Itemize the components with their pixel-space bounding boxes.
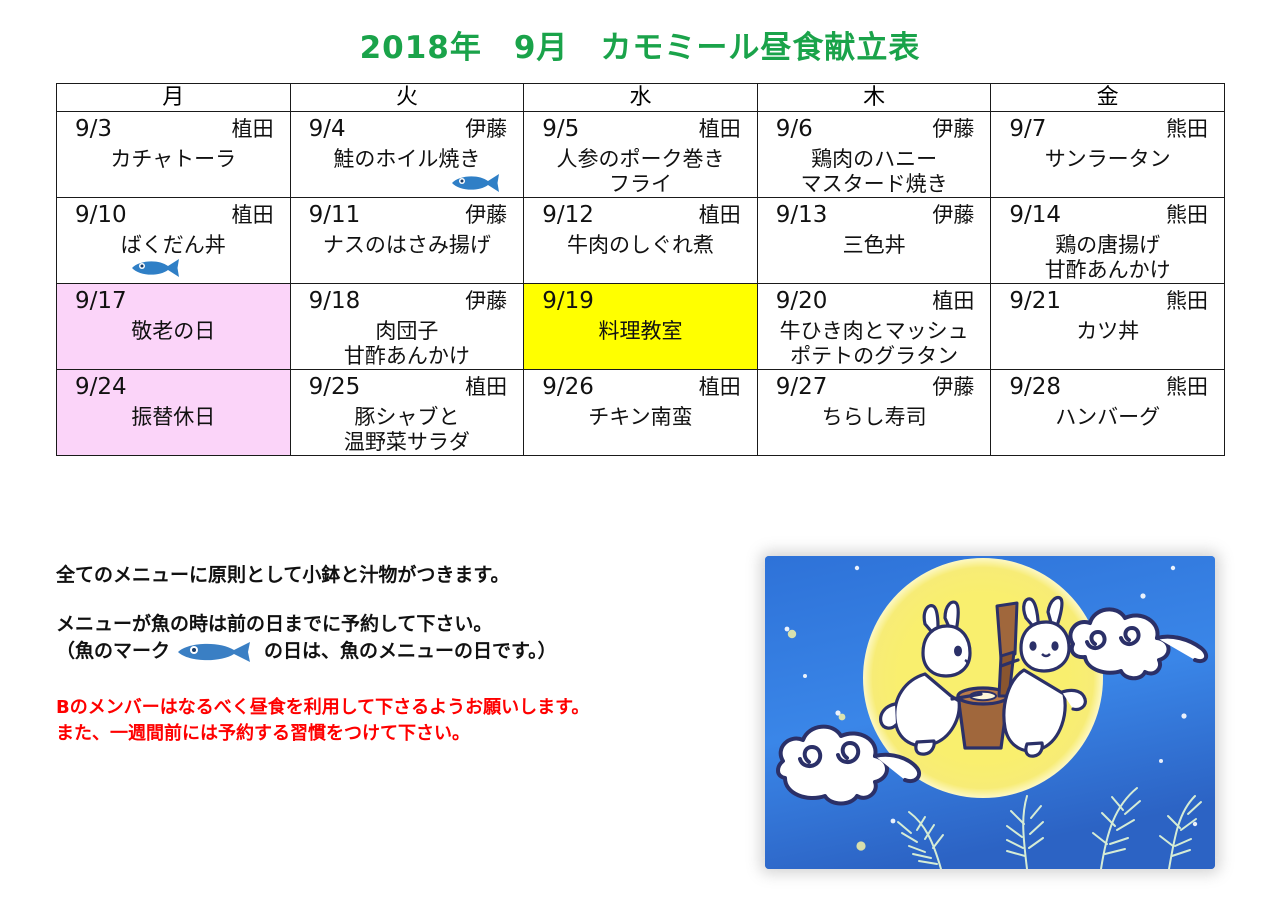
day-menu: 鶏の唐揚げ 甘酢あんかけ: [991, 230, 1224, 283]
note-line-3: （魚のマーク の日は、魚のメニューの日です。）: [56, 638, 746, 665]
day-cell-9-17[interactable]: 9/17敬老の日: [57, 284, 291, 370]
day-date: 9/13: [776, 200, 828, 230]
weekday-header-tue: 火: [290, 84, 524, 112]
day-date: 9/7: [1009, 114, 1046, 144]
day-menu: ナスのはさみ揚げ: [291, 230, 524, 258]
fish-icon: [174, 641, 260, 663]
note-spacer: [56, 589, 746, 611]
day-date: 9/25: [309, 372, 361, 402]
day-cell-9-20[interactable]: 9/20植田牛ひき肉とマッシュ ポテトのグラタン: [757, 284, 991, 370]
day-date: 9/21: [1009, 286, 1061, 316]
day-cell-9-19[interactable]: 9/19料理教室: [524, 284, 758, 370]
table-row: 9/3植田カチャトーラ9/4伊藤鮭のホイル焼き9/5植田人参のポーク巻き フライ…: [57, 112, 1225, 198]
day-staff: 伊藤: [465, 114, 507, 144]
day-date: 9/28: [1009, 372, 1061, 402]
fish-icon: [129, 258, 185, 278]
day-staff: 植田: [699, 114, 741, 144]
day-staff: 植田: [465, 372, 507, 402]
table-row: 9/24振替休日9/25植田豚シャブと 温野菜サラダ9/26植田チキン南蛮9/2…: [57, 370, 1225, 456]
note-line-3-after: の日は、魚のメニューの日です。）: [264, 638, 557, 665]
day-menu: 人参のポーク巻き フライ: [524, 144, 757, 197]
notes-red-block: Bのメンバーはなるべく昼食を利用して下さるようお願いします。 また、一週間前には…: [56, 695, 756, 747]
day-cell-9-26[interactable]: 9/26植田チキン南蛮: [524, 370, 758, 456]
day-cell-9-6[interactable]: 9/6伊藤鶏肉のハニー マスタード焼き: [757, 112, 991, 198]
day-menu: カチャトーラ: [57, 144, 290, 172]
day-cell-9-21[interactable]: 9/21熊田カツ丼: [991, 284, 1225, 370]
weekday-header-thu: 木: [757, 84, 991, 112]
day-menu: ハンバーグ: [991, 402, 1224, 430]
day-cell-9-25[interactable]: 9/25植田豚シャブと 温野菜サラダ: [290, 370, 524, 456]
day-staff: 伊藤: [932, 200, 974, 230]
day-staff: 植田: [699, 200, 741, 230]
note-red-line-1: Bのメンバーはなるべく昼食を利用して下さるようお願いします。: [56, 695, 756, 721]
day-date: 9/26: [542, 372, 594, 402]
day-cell-9-11[interactable]: 9/11伊藤ナスのはさみ揚げ: [290, 198, 524, 284]
day-staff: 熊田: [1166, 114, 1208, 144]
table-header-row: 月 火 水 木 金: [57, 84, 1225, 112]
day-date: 9/20: [776, 286, 828, 316]
day-menu: 振替休日: [57, 402, 290, 430]
day-date: 9/12: [542, 200, 594, 230]
day-staff: 伊藤: [465, 286, 507, 316]
day-staff: 熊田: [1166, 372, 1208, 402]
day-cell-9-7[interactable]: 9/7熊田サンラータン: [991, 112, 1225, 198]
day-staff: 伊藤: [932, 114, 974, 144]
day-date: 9/19: [542, 286, 594, 316]
day-menu: チキン南蛮: [524, 402, 757, 430]
day-staff: 植田: [232, 114, 274, 144]
table-row: 9/17敬老の日9/18伊藤肉団子 甘酢あんかけ9/19料理教室9/20植田牛ひ…: [57, 284, 1225, 370]
day-cell-9-18[interactable]: 9/18伊藤肉団子 甘酢あんかけ: [290, 284, 524, 370]
weekday-header-wed: 水: [524, 84, 758, 112]
day-menu: 牛肉のしぐれ煮: [524, 230, 757, 258]
fish-icon: [449, 173, 505, 193]
table-body: 9/3植田カチャトーラ9/4伊藤鮭のホイル焼き9/5植田人参のポーク巻き フライ…: [57, 112, 1225, 456]
day-date: 9/3: [75, 114, 112, 144]
day-date: 9/14: [1009, 200, 1061, 230]
day-date: 9/5: [542, 114, 579, 144]
day-cell-9-27[interactable]: 9/27伊藤ちらし寿司: [757, 370, 991, 456]
day-staff: 伊藤: [465, 200, 507, 230]
day-cell-9-24[interactable]: 9/24振替休日: [57, 370, 291, 456]
day-menu: 豚シャブと 温野菜サラダ: [291, 402, 524, 455]
weekday-header-fri: 金: [991, 84, 1225, 112]
day-cell-9-12[interactable]: 9/12植田牛肉のしぐれ煮: [524, 198, 758, 284]
day-date: 9/4: [309, 114, 346, 144]
table-row: 9/10植田ばくだん丼9/11伊藤ナスのはさみ揚げ9/12植田牛肉のしぐれ煮9/…: [57, 198, 1225, 284]
tsukimi-rabbit-illustration: [765, 556, 1215, 869]
day-menu: カツ丼: [991, 316, 1224, 344]
note-line-3-before: （魚のマーク: [56, 638, 170, 665]
day-date: 9/18: [309, 286, 361, 316]
day-date: 9/11: [309, 200, 361, 230]
day-staff: 植田: [932, 286, 974, 316]
day-cell-9-13[interactable]: 9/13伊藤三色丼: [757, 198, 991, 284]
note-line-2: メニューが魚の時は前の日までに予約して下さい。: [56, 611, 746, 638]
notes-block: 全てのメニューに原則として小鉢と汁物がつきます。 メニューが魚の時は前の日までに…: [56, 562, 746, 665]
day-cell-9-5[interactable]: 9/5植田人参のポーク巻き フライ: [524, 112, 758, 198]
weekday-header-mon: 月: [57, 84, 291, 112]
day-cell-9-28[interactable]: 9/28熊田ハンバーグ: [991, 370, 1225, 456]
day-menu: 鮭のホイル焼き: [291, 144, 524, 172]
day-menu: 料理教室: [524, 316, 757, 344]
note-line-1: 全てのメニューに原則として小鉢と汁物がつきます。: [56, 562, 746, 589]
day-date: 9/27: [776, 372, 828, 402]
day-menu: 肉団子 甘酢あんかけ: [291, 316, 524, 369]
day-menu: 牛ひき肉とマッシュ ポテトのグラタン: [758, 316, 991, 369]
day-date: 9/17: [75, 286, 127, 316]
page-title: 2018年 9月 カモミール昼食献立表: [0, 22, 1280, 67]
day-date: 9/10: [75, 200, 127, 230]
day-menu: 鶏肉のハニー マスタード焼き: [758, 144, 991, 197]
day-menu: 三色丼: [758, 230, 991, 258]
day-menu: 敬老の日: [57, 316, 290, 344]
day-cell-9-14[interactable]: 9/14熊田鶏の唐揚げ 甘酢あんかけ: [991, 198, 1225, 284]
day-staff: 植田: [699, 372, 741, 402]
day-staff: 伊藤: [932, 372, 974, 402]
day-menu: サンラータン: [991, 144, 1224, 172]
day-staff: 熊田: [1166, 200, 1208, 230]
day-menu: ばくだん丼: [57, 230, 290, 258]
note-red-line-2: また、一週間前には予約する習慣をつけて下さい。: [56, 721, 756, 747]
day-cell-9-3[interactable]: 9/3植田カチャトーラ: [57, 112, 291, 198]
day-staff: 植田: [232, 200, 274, 230]
day-cell-9-4[interactable]: 9/4伊藤鮭のホイル焼き: [290, 112, 524, 198]
lunch-menu-table: 月 火 水 木 金 9/3植田カチャトーラ9/4伊藤鮭のホイル焼き9/5植田人参…: [56, 83, 1225, 456]
day-date: 9/6: [776, 114, 813, 144]
day-staff: 熊田: [1166, 286, 1208, 316]
day-cell-9-10[interactable]: 9/10植田ばくだん丼: [57, 198, 291, 284]
day-date: 9/24: [75, 372, 127, 402]
day-menu: ちらし寿司: [758, 402, 991, 430]
